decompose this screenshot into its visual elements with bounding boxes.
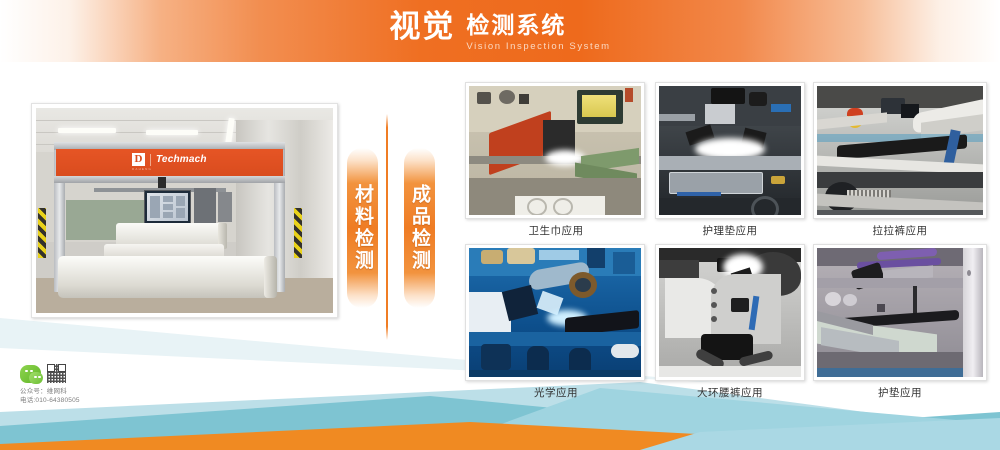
footer-contact-block: 公众号：维网科 电话:010-64380505 <box>20 364 150 405</box>
machine-control-monitor <box>144 190 191 224</box>
brand-name-text: Techmach <box>156 154 207 165</box>
gallery-item-panty-liner[interactable]: 护垫应用 <box>813 244 987 404</box>
gallery-item-pull-up-pants[interactable]: 拉拉裤应用 <box>813 82 987 242</box>
poster-page: 视觉 检测系统 Vision Inspection System <box>0 0 1000 450</box>
vertical-divider <box>386 114 388 340</box>
gallery-caption-pull-up-pants: 拉拉裤应用 <box>813 223 987 238</box>
footer-phone: 电话:010-64380505 <box>20 396 150 405</box>
machine-brand-mark: D DAHENG Techmach <box>132 153 207 166</box>
qr-code-icon[interactable] <box>47 364 66 383</box>
wechat-icon[interactable] <box>20 365 41 383</box>
page-title-primary: 视觉 <box>389 10 455 44</box>
gallery-item-care-pad[interactable]: 护理垫应用 <box>655 82 805 242</box>
main-machine-photo[interactable]: D DAHENG Techmach <box>31 103 338 318</box>
category-label-material-text: 材料检测 <box>349 184 376 272</box>
gallery-caption-care-pad: 护理垫应用 <box>655 223 805 238</box>
header-banner-content: 视觉 检测系统 Vision Inspection System <box>0 0 1000 62</box>
brand-logo-letter: D <box>132 153 145 166</box>
footer-wechat-account: 公众号：维网科 <box>20 387 150 396</box>
category-label-product[interactable]: 成品检测 <box>404 148 435 308</box>
brand-logo-subtext: DAHENG <box>132 167 152 171</box>
gallery-caption-optical: 光学应用 <box>465 385 647 400</box>
gallery-caption-big-waist-pants: 大环腰裤应用 <box>655 385 805 400</box>
application-gallery: 卫生巾应用 <box>465 82 987 404</box>
gallery-item-sanitary-napkin[interactable]: 卫生巾应用 <box>465 82 647 242</box>
gallery-item-big-waist-pants[interactable]: 大环腰裤应用 <box>655 244 805 404</box>
page-subtitle-english: Vision Inspection System <box>466 40 610 53</box>
gallery-item-optical[interactable]: 光学应用 <box>465 244 647 404</box>
page-title-secondary: 检测系统 <box>466 13 566 38</box>
gallery-caption-sanitary-napkin: 卫生巾应用 <box>465 223 647 238</box>
category-label-product-text: 成品检测 <box>406 184 433 272</box>
gallery-caption-panty-liner: 护垫应用 <box>813 385 987 400</box>
material-roll-lower <box>58 256 276 298</box>
category-label-material[interactable]: 材料检测 <box>347 148 378 308</box>
